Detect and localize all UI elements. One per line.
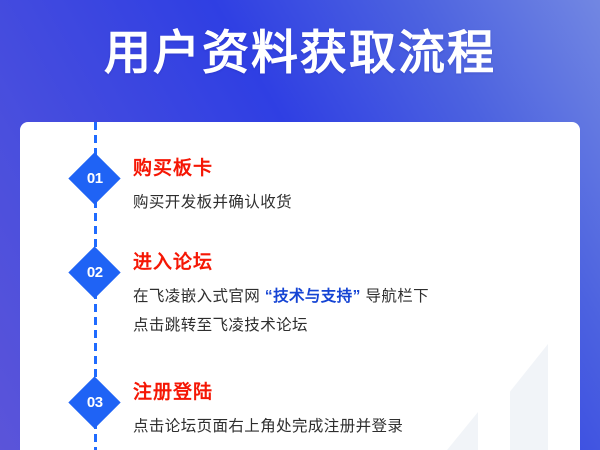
step-text-after: 导航栏下 xyxy=(361,288,429,305)
step-heading-03: 注册登陆 xyxy=(133,380,560,406)
step-heading-02: 进入论坛 xyxy=(133,250,560,276)
content-card: 01 购买板卡 购买开发板并确认收货 02 进入论坛 在飞凌嵌入式官网 “技术与… xyxy=(20,122,580,450)
step-body-01: 购买板卡 购买开发板并确认收货 xyxy=(133,156,580,217)
step-line-03-1: 点击论坛页面右上角处完成注册并登录 xyxy=(133,412,560,441)
page-title: 用户资料获取流程 xyxy=(0,22,600,84)
step-badge-02-icon: 02 xyxy=(68,246,120,298)
step-number-01: 01 xyxy=(87,171,103,186)
step-line-01-1: 购买开发板并确认收货 xyxy=(133,188,560,217)
step-body-03: 注册登陆 点击论坛页面右上角处完成注册并登录 xyxy=(133,380,580,441)
step-text-before: 点击跳转至飞凌技术论坛 xyxy=(133,317,308,334)
step-line-02-1: 在飞凌嵌入式官网 “技术与支持” 导航栏下 xyxy=(133,282,560,311)
step-body-02: 进入论坛 在飞凌嵌入式官网 “技术与支持” 导航栏下 点击跳转至飞凌技术论坛 xyxy=(133,250,580,340)
step-number-03: 03 xyxy=(87,395,103,410)
step-number-02: 02 xyxy=(87,265,103,280)
step-item-03: 03 注册登陆 点击论坛页面右上角处完成注册并登录 xyxy=(20,380,580,441)
step-text-before: 在飞凌嵌入式官网 xyxy=(133,288,265,305)
step-line-02-2: 点击跳转至飞凌技术论坛 xyxy=(133,311,560,340)
step-item-02: 02 进入论坛 在飞凌嵌入式官网 “技术与支持” 导航栏下 点击跳转至飞凌技术论… xyxy=(20,250,580,340)
step-text-highlight: “技术与支持” xyxy=(265,288,361,305)
step-heading-01: 购买板卡 xyxy=(133,156,560,182)
step-badge-03-icon: 03 xyxy=(68,376,120,428)
step-text-before: 点击论坛页面右上角处完成注册并登录 xyxy=(133,418,403,435)
step-item-01: 01 购买板卡 购买开发板并确认收货 xyxy=(20,156,580,217)
step-text-before: 购买开发板并确认收货 xyxy=(133,194,292,211)
step-badge-01-icon: 01 xyxy=(68,152,120,204)
